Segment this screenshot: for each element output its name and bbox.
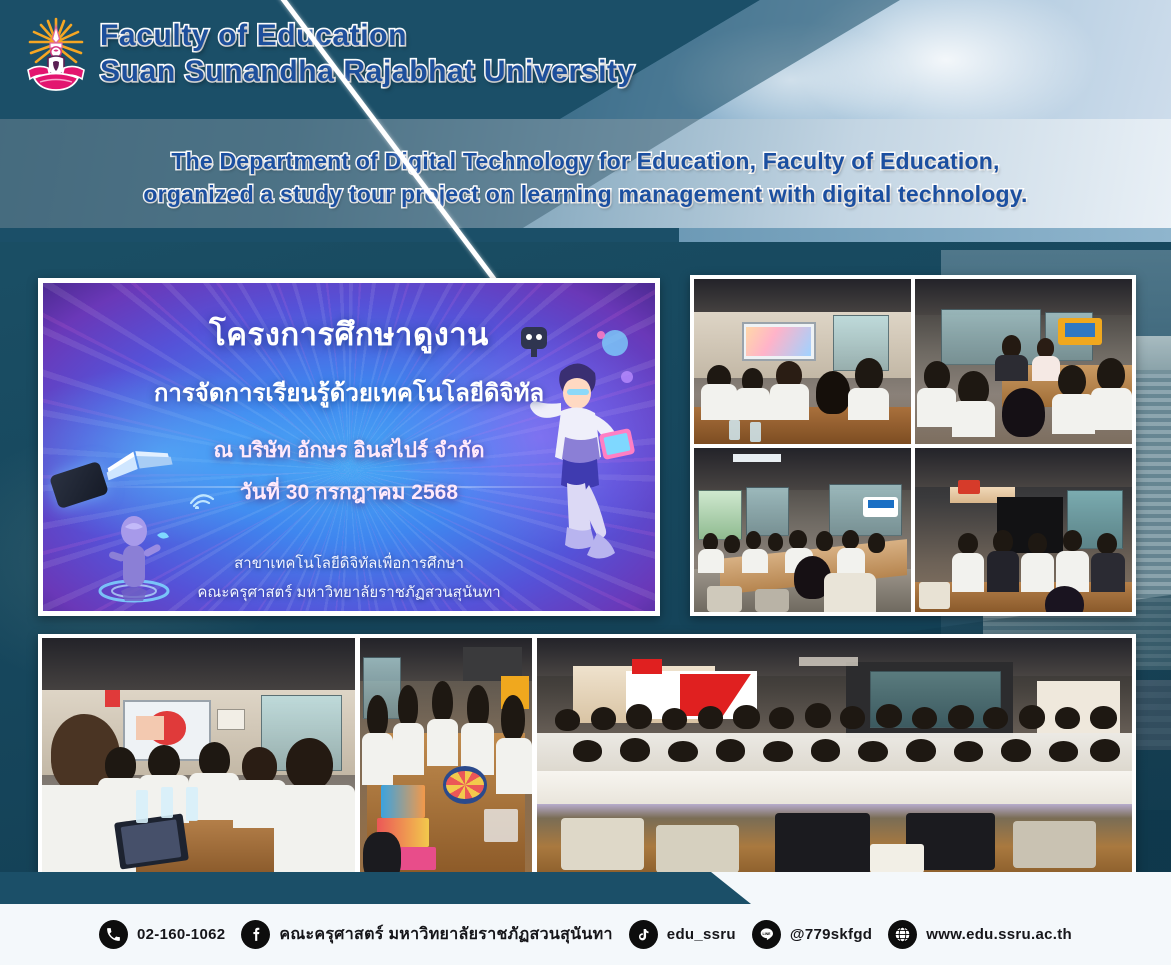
- photo-board-game-activity: [360, 638, 532, 875]
- phone-icon: [99, 920, 128, 949]
- banner-text: The Department of Digital Technology for…: [0, 145, 1171, 212]
- poster-title: โครงการศึกษาดูงาน: [43, 309, 655, 359]
- svg-text:LINE: LINE: [762, 932, 771, 936]
- line-icon: LINE: [752, 920, 781, 949]
- contact-tiktok[interactable]: edu_ssru: [629, 920, 736, 949]
- poster-org-line-1: สาขาเทคโนโลยีดิจิทัลเพื่อการศึกษา: [43, 551, 655, 575]
- tiktok-handle: edu_ssru: [667, 926, 736, 943]
- subtitle-banner: The Department of Digital Technology for…: [0, 119, 1171, 242]
- photo-students-with-tablets: [42, 638, 355, 875]
- poster-artwork: โครงการศึกษาดูงาน การจัดการเรียนรู้ด้วยเ…: [43, 283, 655, 611]
- contact-phone[interactable]: 02-160-1062: [99, 920, 225, 949]
- poster-text-block: โครงการศึกษาดูงาน การจัดการเรียนรู้ด้วยเ…: [43, 283, 655, 611]
- banner-bottom-strip: [0, 228, 1171, 242]
- photo-bottom-row: [42, 638, 1132, 875]
- banner-line-1: The Department of Digital Technology for…: [0, 145, 1171, 178]
- event-poster-card: โครงการศึกษาดูงาน การจัดการเรียนรู้ด้วยเ…: [38, 278, 660, 616]
- photo-students-at-meeting-table: [915, 279, 1132, 444]
- phone-number: 02-160-1062: [137, 926, 225, 943]
- photo-long-table-group-session: [694, 448, 911, 613]
- poster-subtitle: การจัดการเรียนรู้ด้วยเทคโนโลยีดิจิทัล: [43, 373, 655, 412]
- photo-grid: [694, 279, 1132, 612]
- poster-org-line-2: คณะครุศาสตร์ มหาวิทยาลัยราชภัฏสวนสุนันทา: [43, 580, 655, 604]
- globe-icon: [888, 920, 917, 949]
- photo-large-group-class: [537, 638, 1132, 875]
- contact-website[interactable]: www.edu.ssru.ac.th: [888, 920, 1072, 949]
- facebook-icon: [241, 920, 270, 949]
- brand-title: Faculty of Education Suan Sunandha Rajab…: [100, 20, 635, 89]
- facebook-page-name: คณะครุศาสตร์ มหาวิทยาลัยราชภัฏสวนสุนันทา: [279, 922, 612, 947]
- photo-bottom-card: [38, 634, 1136, 879]
- contact-line[interactable]: LINE @779skfgd: [752, 920, 872, 949]
- photo-standing-group-discussion: [915, 448, 1132, 613]
- line-id: @779skfgd: [790, 926, 872, 943]
- ssru-royal-emblem-logo: [20, 12, 92, 104]
- brand-line-2: Suan Sunandha Rajabhat University: [100, 56, 635, 88]
- brand-line-1: Faculty of Education: [100, 20, 635, 52]
- contact-footer: 02-160-1062 คณะครุศาสตร์ มหาวิทยาลัยราชภ…: [0, 904, 1171, 965]
- photo-grid-card: [690, 275, 1136, 616]
- photo-seminar-room-presentation: [694, 279, 911, 444]
- contact-facebook[interactable]: คณะครุศาสตร์ มหาวิทยาลัยราชภัฏสวนสุนันทา: [241, 920, 612, 949]
- footer-accent-band: [0, 872, 1171, 904]
- page-header: Faculty of Education Suan Sunandha Rajab…: [0, 0, 1171, 119]
- website-url: www.edu.ssru.ac.th: [926, 926, 1072, 943]
- banner-line-2: organized a study tour project on learni…: [0, 178, 1171, 211]
- event-announcement-poster: Faculty of Education Suan Sunandha Rajab…: [0, 0, 1171, 965]
- tiktok-icon: [629, 920, 658, 949]
- poster-date: วันที่ 30 กรกฎาคม 2568: [43, 476, 655, 509]
- poster-venue: ณ บริษัท อักษร อินสไปร์ จำกัด: [43, 434, 655, 467]
